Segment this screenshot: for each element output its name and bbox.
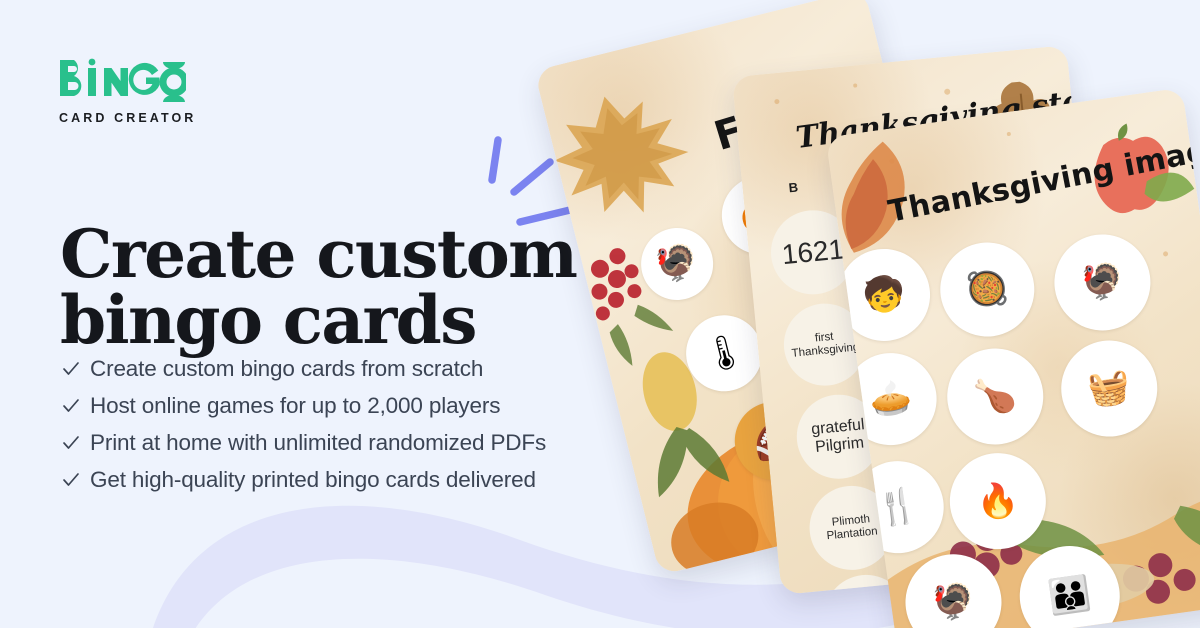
list-item-label: Get high-quality printed bingo cards del… bbox=[90, 469, 632, 492]
list-item: Print at home with unlimited randomized … bbox=[62, 432, 632, 455]
list-item: Get high-quality printed bingo cards del… bbox=[62, 469, 632, 492]
turkey-bird-icon: 🦃 bbox=[1079, 263, 1126, 303]
cutlery-icon: 🍴 bbox=[874, 487, 921, 527]
logo-subtitle: CARD CREATOR bbox=[59, 111, 286, 125]
check-icon bbox=[62, 471, 80, 489]
list-item-label: Host online games for up to 2,000 player… bbox=[90, 395, 632, 418]
headline-line-2: bingo cards bbox=[60, 288, 580, 353]
bingo-wordmark-icon bbox=[56, 52, 186, 104]
children-playing-leaves-icon: 🧒 bbox=[861, 275, 908, 315]
list-item: Host online games for up to 2,000 player… bbox=[62, 395, 632, 418]
bingo-card-stack: Fall 🦃 🎃 🌥 🌡 🌽 🏈 ⚾ bbox=[560, 0, 1200, 628]
fireplace-icon: 🔥 bbox=[975, 481, 1022, 521]
check-icon bbox=[62, 397, 80, 415]
column-header-b: B bbox=[788, 179, 799, 195]
family-dinner-icon: 👪 bbox=[1046, 576, 1093, 616]
list-item-label: Print at home with unlimited randomized … bbox=[90, 432, 632, 455]
roast-turkey-icon: 🍗 bbox=[972, 377, 1019, 417]
check-icon bbox=[62, 360, 80, 378]
feature-list: Create custom bingo cards from scratch H… bbox=[62, 358, 632, 506]
list-item-label: Create custom bingo cards from scratch bbox=[90, 358, 632, 381]
bingo-cell-label: first Thanksgiving bbox=[787, 328, 863, 361]
thermometer-icon: 🌡 bbox=[699, 332, 749, 375]
bread-basket-icon: 🧺 bbox=[1086, 369, 1133, 409]
hero-banner: CARD CREATOR Create custom bingo cards C… bbox=[0, 0, 1200, 628]
turkey-bird-2-icon: 🦃 bbox=[930, 583, 977, 623]
bingo-cell-label: 1621 bbox=[780, 234, 845, 271]
check-icon bbox=[62, 434, 80, 452]
green-bean-casserole-icon: 🥘 bbox=[964, 270, 1011, 310]
list-item: Create custom bingo cards from scratch bbox=[62, 358, 632, 381]
turkey-icon: 🦃 bbox=[652, 242, 701, 285]
pumpkin-pie-icon: 🥧 bbox=[867, 379, 914, 419]
logo[interactable]: CARD CREATOR bbox=[56, 52, 286, 125]
